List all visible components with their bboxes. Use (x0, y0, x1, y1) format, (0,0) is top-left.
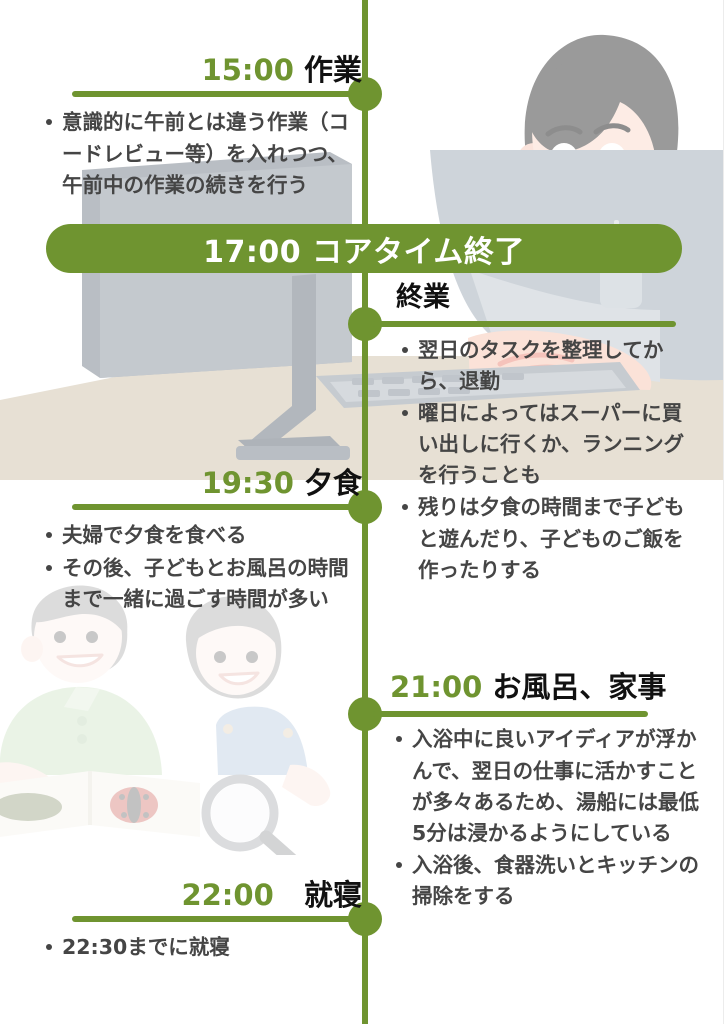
core-time-end-banner-text: 17:00 コアタイム終了 (46, 227, 682, 271)
entry-heading-end-of-work: 終業 (396, 283, 696, 313)
entry-time-dinner: 19:30 (202, 466, 294, 500)
entry-heading-bath-chores: 21:00 お風呂、家事 (390, 672, 700, 702)
timeline-entry-work-pm: 15:00 作業 意識的に午前とは違う作業（コードレビュー等）を入れつつ、午前中… (40, 55, 362, 202)
entry-time-bedtime: 22:00 (181, 878, 273, 912)
entry-heading-dinner: 19:30 夕食 (40, 468, 362, 498)
timeline-entry-bedtime: 22:00 就寝 22:30までに就寝 (40, 880, 362, 965)
list-item: 残りは夕食の時間まで子どもと遊んだり、子どものご飯を作ったりする (416, 492, 696, 585)
core-time-end-banner: 17:00 コアタイム終了 (46, 224, 682, 273)
entry-label-work-pm: 作業 (304, 53, 362, 87)
list-item: 曜日によってはスーパーに買い出しに行くか、ランニングを行うことも (416, 398, 696, 491)
entry-heading-bedtime: 22:00 就寝 (40, 880, 362, 910)
list-item: 入浴中に良いアイディアが浮かんで、翌日の仕事に活かすことが多々あるため、湯船には… (410, 724, 700, 849)
parent-and-child-reading-illustration (0, 575, 370, 855)
entry-label-bath-chores: お風呂、家事 (492, 670, 666, 704)
entry-bullets-dinner: 夫婦で夕食を食べる その後、子どもとお風呂の時間まで一緒に過ごす時間が多い (40, 520, 362, 614)
entry-bullets-end-of-work: 翌日のタスクを整理してから、退勤 曜日によってはスーパーに買い出しに行くか、ラン… (396, 335, 696, 586)
infographic-page: 15:00 作業 意識的に午前とは違う作業（コードレビュー等）を入れつつ、午前中… (0, 0, 724, 1024)
list-item: 入浴後、食器洗いとキッチンの掃除をする (410, 850, 700, 912)
list-item: その後、子どもとお風呂の時間まで一緒に過ごす時間が多い (60, 553, 362, 615)
entry-label-bedtime: 就寝 (304, 878, 362, 912)
timeline-entry-dinner: 19:30 夕食 夫婦で夕食を食べる その後、子どもとお風呂の時間まで一緒に過ご… (40, 468, 362, 616)
list-item: 22:30までに就寝 (60, 932, 362, 963)
entry-time-bath-chores: 21:00 (390, 670, 482, 704)
timeline-entry-end-of-work: 終業 翌日のタスクを整理してから、退勤 曜日によってはスーパーに買い出しに行くか… (396, 283, 696, 587)
list-item: 翌日のタスクを整理してから、退勤 (416, 335, 696, 397)
list-item: 夫婦で夕食を食べる (60, 520, 362, 551)
entry-bullets-bath-chores: 入浴中に良いアイディアが浮かんで、翌日の仕事に活かすことが多々あるため、湯船には… (390, 724, 700, 912)
entry-bullets-work-pm: 意識的に午前とは違う作業（コードレビュー等）を入れつつ、午前中の作業の続きを行う (40, 107, 362, 200)
entry-time-work-pm: 15:00 (202, 53, 294, 87)
entry-heading-work-pm: 15:00 作業 (40, 55, 362, 85)
entry-bullets-bedtime: 22:30までに就寝 (40, 932, 362, 963)
timeline-entry-bath-chores: 21:00 お風呂、家事 入浴中に良いアイディアが浮かんで、翌日の仕事に活かすこ… (390, 672, 700, 913)
entry-label-dinner: 夕食 (304, 466, 362, 500)
list-item: 意識的に午前とは違う作業（コードレビュー等）を入れつつ、午前中の作業の続きを行う (60, 107, 362, 200)
